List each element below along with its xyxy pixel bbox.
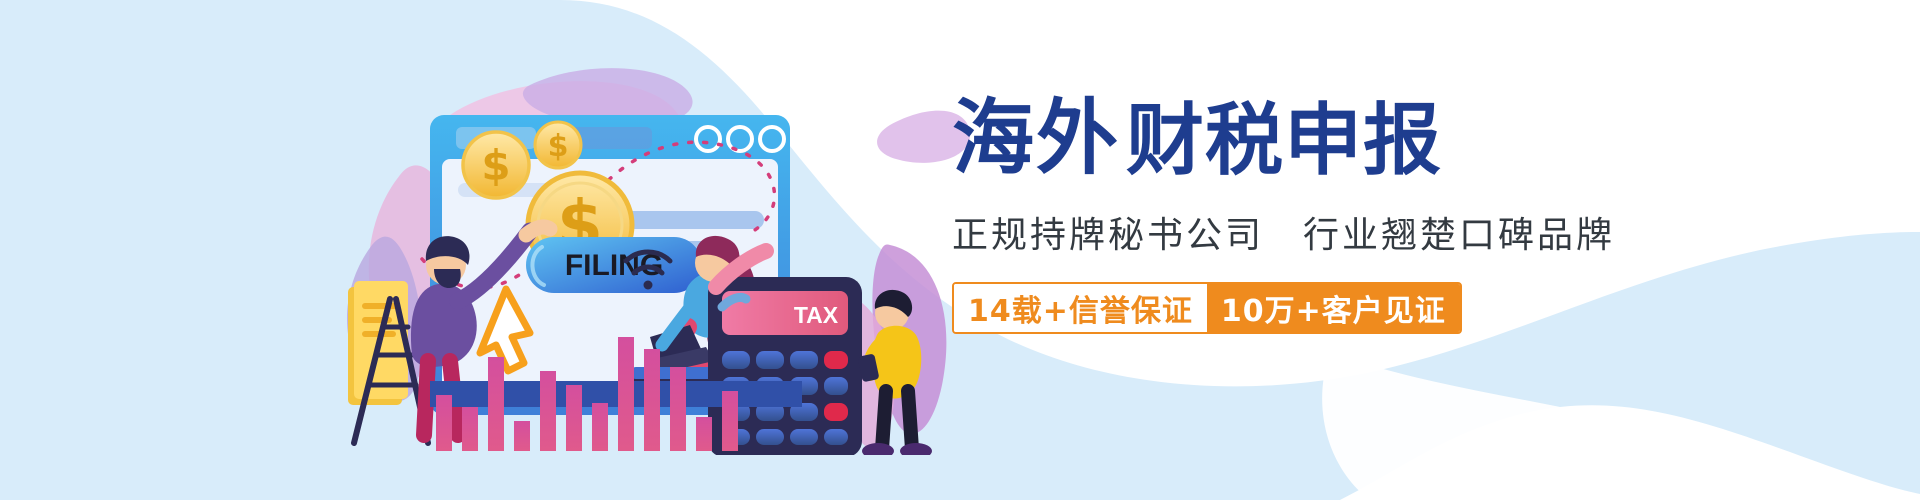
headline: 海外 财税申报 [952,88,1592,180]
headline-part-1: 海外 [952,98,1120,180]
illustration-svg: $ $ $ [330,55,970,455]
subtitle: 正规持牌秘书公司 行业翘楚口碑品牌 [952,206,1592,258]
filing-button[interactable]: FILING [526,237,702,293]
illustration: $ $ $ [330,55,970,455]
text-column: 海外 财税申报 正规持牌秘书公司 行业翘楚口碑品牌 14载+信誉保证 10万+客… [952,88,1592,334]
badge-group: 14载+信誉保证 10万+客户见证 [952,282,1462,334]
coin-small: $ [535,122,581,168]
coin-medium: $ [463,132,529,198]
badge-customer-proof: 10万+客户见证 [1207,284,1460,332]
headline-part-2: 财税申报 [1126,102,1442,180]
svg-text:$: $ [481,141,510,190]
svg-text:$: $ [548,129,569,164]
badge-credit-guarantee: 14载+信誉保证 [954,284,1207,332]
calculator-display-label: TAX [794,302,839,328]
banner-root: $ $ $ [0,0,1920,500]
